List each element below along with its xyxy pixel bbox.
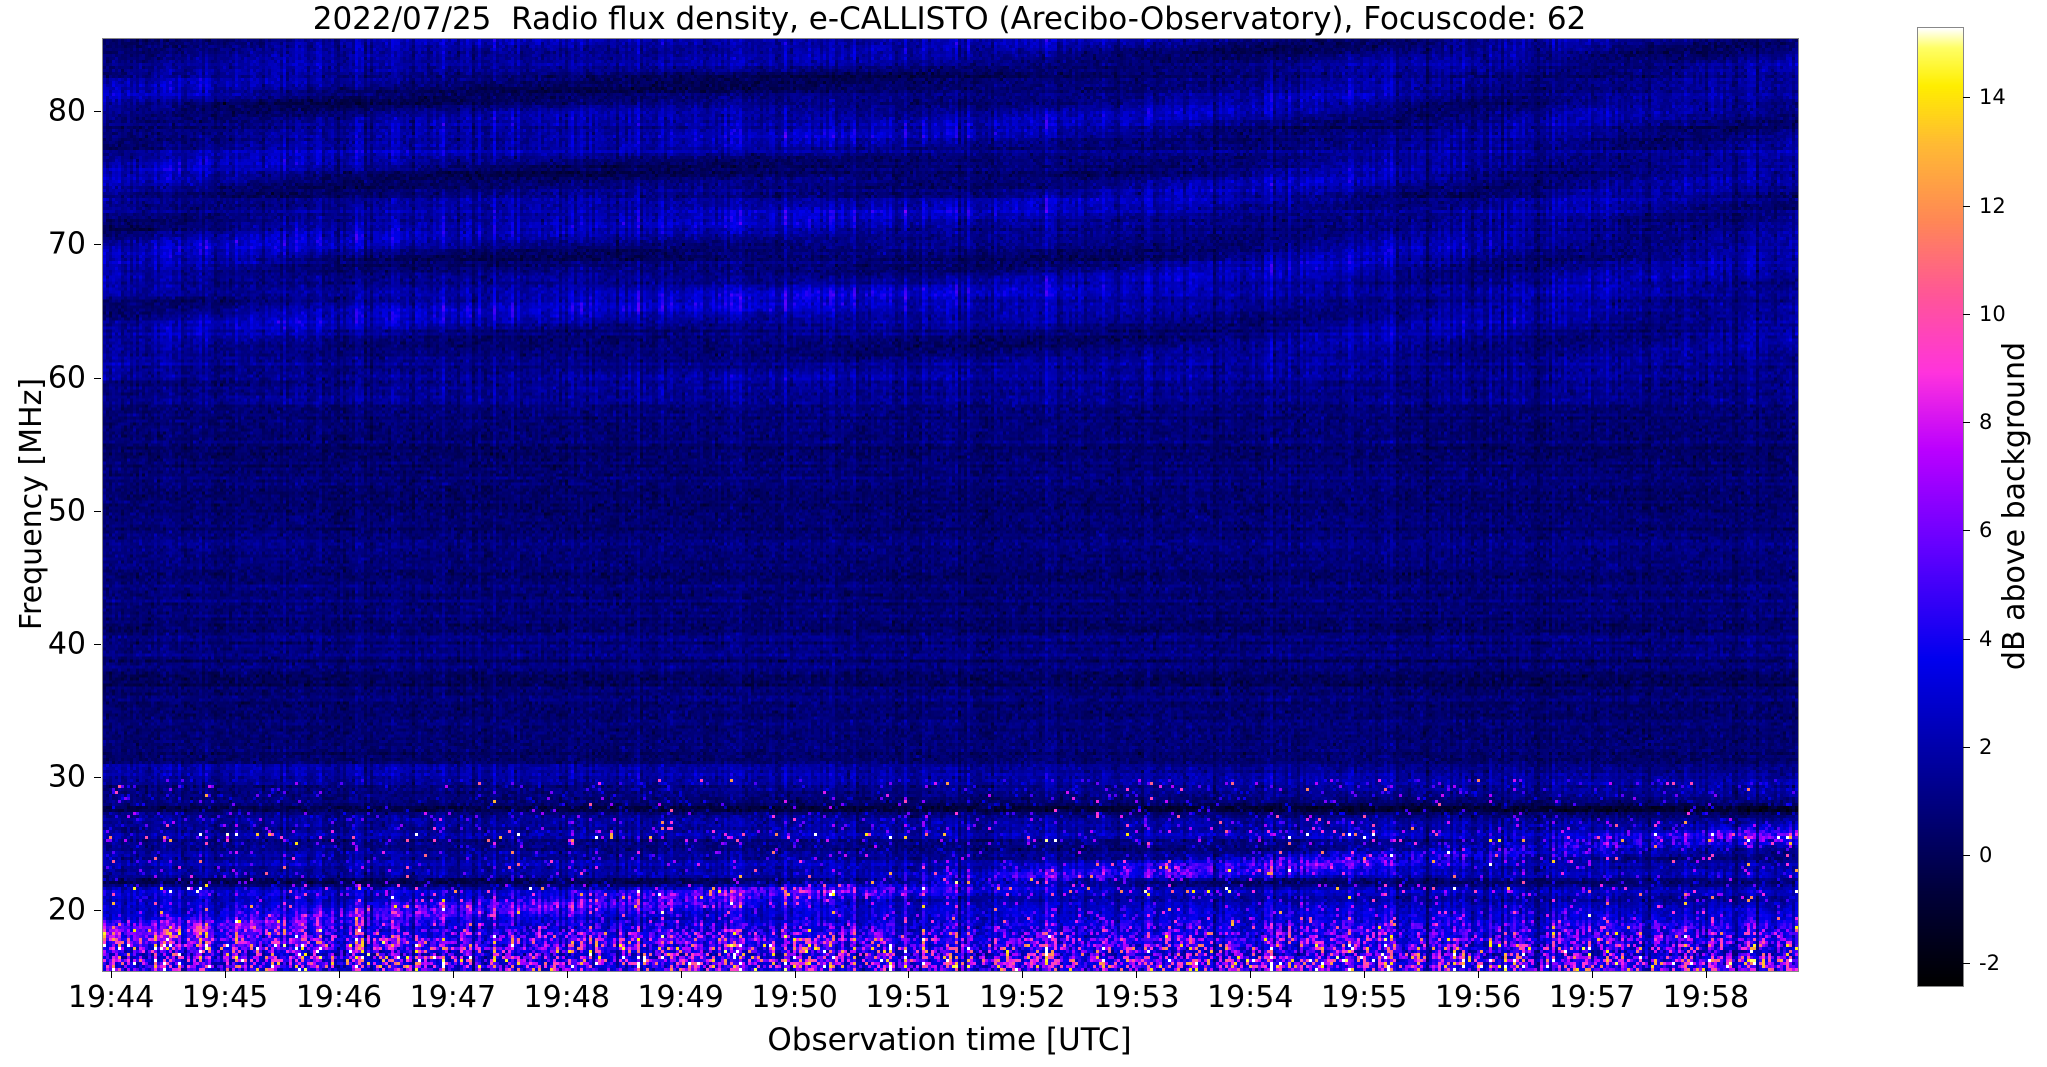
- colorbar-tick-label: 0: [1979, 843, 1992, 867]
- x-axis-tick-label: 19:58: [1663, 980, 1749, 1015]
- colorbar-gradient: [1918, 28, 1963, 986]
- colorbar: [1917, 27, 1964, 987]
- colorbar-tick-mark: [1963, 206, 1970, 207]
- y-axis-tick-label: 70: [0, 227, 86, 262]
- x-axis-tick-mark: [111, 971, 112, 978]
- x-axis-tick-mark: [339, 971, 340, 978]
- colorbar-tick-label: 4: [1979, 627, 1992, 651]
- x-axis-tick-label: 19:56: [1435, 980, 1521, 1015]
- y-axis-tick-mark: [94, 244, 101, 245]
- spectrogram-axes: [102, 38, 1799, 972]
- colorbar-tick-label: 2: [1979, 735, 1992, 759]
- x-axis-tick-mark: [681, 971, 682, 978]
- colorbar-tick-mark: [1963, 747, 1970, 748]
- y-axis-tick-mark: [94, 511, 101, 512]
- x-axis-tick-mark: [567, 971, 568, 978]
- x-axis-tick-label: 19:48: [524, 980, 610, 1015]
- colorbar-tick-mark: [1963, 530, 1970, 531]
- figure-title: 2022/07/25 Radio flux density, e-CALLIST…: [102, 0, 1797, 38]
- colorbar-label: dB above background: [1997, 342, 2032, 670]
- colorbar-tick-label: 12: [1979, 194, 2006, 218]
- x-axis-tick-label: 19:50: [751, 980, 837, 1015]
- x-axis-tick-label: 19:53: [1093, 980, 1179, 1015]
- x-axis-tick-label: 19:54: [1207, 980, 1293, 1015]
- x-axis-tick-label: 19:44: [68, 980, 154, 1015]
- colorbar-tick-mark: [1963, 639, 1970, 640]
- x-axis-tick-label: 19:49: [637, 980, 723, 1015]
- colorbar-tick-mark: [1963, 963, 1970, 964]
- y-axis-tick-mark: [94, 777, 101, 778]
- x-axis-tick-mark: [1136, 971, 1137, 978]
- x-axis-tick-mark: [225, 971, 226, 978]
- colorbar-tick-label: 14: [1979, 85, 2006, 109]
- x-axis-tick-mark: [453, 971, 454, 978]
- y-axis-tick-label: 20: [0, 893, 86, 928]
- y-axis-label: Frequency [MHz]: [14, 378, 49, 630]
- x-axis-tick-label: 19:46: [296, 980, 382, 1015]
- x-axis-tick-mark: [1022, 971, 1023, 978]
- x-axis-tick-mark: [1706, 971, 1707, 978]
- y-axis-tick-mark: [94, 644, 101, 645]
- x-axis-tick-mark: [795, 971, 796, 978]
- colorbar-tick-label: 10: [1979, 302, 2006, 326]
- x-axis-label: Observation time [UTC]: [102, 1022, 1797, 1058]
- x-axis-tick-mark: [1478, 971, 1479, 978]
- x-axis-tick-label: 19:51: [865, 980, 951, 1015]
- colorbar-tick-mark: [1963, 422, 1970, 423]
- y-axis-tick-mark: [94, 111, 101, 112]
- x-axis-tick-label: 19:57: [1549, 980, 1635, 1015]
- x-axis-tick-label: 19:55: [1321, 980, 1407, 1015]
- y-axis-tick-label: 30: [0, 759, 86, 794]
- y-axis-tick-label: 40: [0, 626, 86, 661]
- x-axis-tick-label: 19:45: [182, 980, 268, 1015]
- colorbar-tick-label: 8: [1979, 410, 1992, 434]
- colorbar-tick-mark: [1963, 97, 1970, 98]
- x-axis-tick-mark: [1250, 971, 1251, 978]
- spectrogram-image: [103, 39, 1798, 971]
- spectrogram-figure: 2022/07/25 Radio flux density, e-CALLIST…: [0, 0, 2047, 1067]
- y-axis-tick-mark: [94, 910, 101, 911]
- colorbar-tick-mark: [1963, 314, 1970, 315]
- y-axis-tick-mark: [94, 378, 101, 379]
- colorbar-tick-label: 6: [1979, 518, 1992, 542]
- x-axis-tick-label: 19:47: [410, 980, 496, 1015]
- x-axis-tick-mark: [1592, 971, 1593, 978]
- y-axis-tick-label: 80: [0, 94, 86, 129]
- colorbar-tick-label: -2: [1979, 951, 2000, 975]
- x-axis-tick-label: 19:52: [979, 980, 1065, 1015]
- x-axis-tick-mark: [1364, 971, 1365, 978]
- x-axis-tick-mark: [908, 971, 909, 978]
- colorbar-tick-mark: [1963, 855, 1970, 856]
